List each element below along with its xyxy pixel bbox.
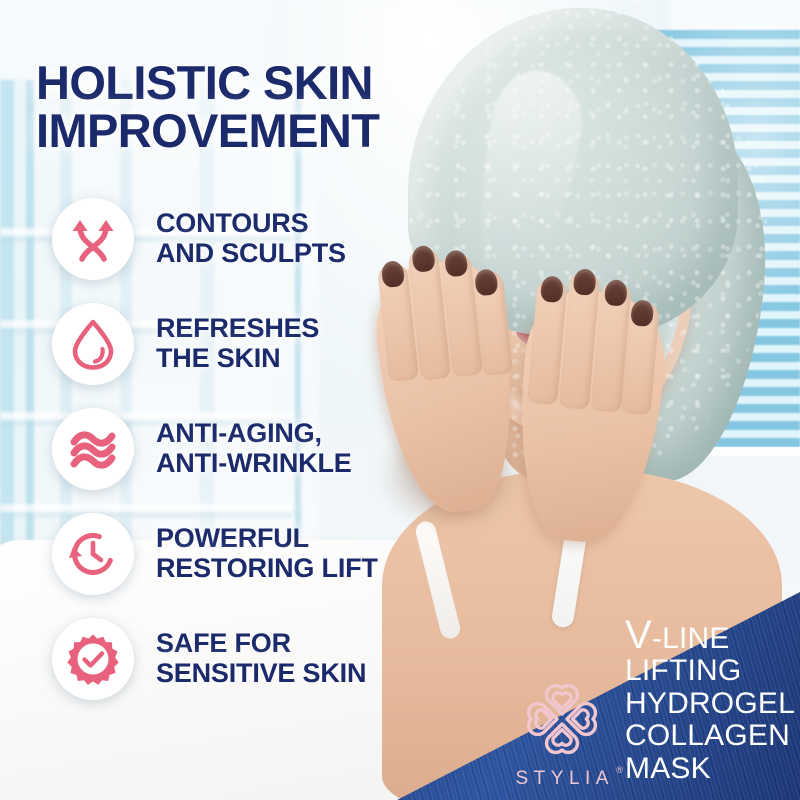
feature-label-line-2: SENSITIVE SKIN	[156, 659, 366, 688]
headline-line-2: IMPROVEMENT	[36, 107, 476, 155]
feature-item-safe-for-sensitive-skin: SAFE FOR SENSITIVE SKIN	[52, 606, 472, 711]
registered-trademark-mark: ®	[611, 765, 623, 775]
feature-label-line-1: CONTOURS	[156, 209, 346, 238]
feature-icon-badge	[52, 198, 134, 280]
feature-label: POWERFUL RESTORING LIFT	[156, 524, 378, 583]
feature-label-line-2: ANTI-WRINKLE	[156, 449, 352, 478]
feature-item-anti-aging-anti-wrinkle: ANTI-AGING, ANTI-WRINKLE	[52, 396, 472, 501]
feature-item-contours-and-sculpts: CONTOURS AND SCULPTS	[52, 186, 472, 291]
product-name-line-5: MASK	[625, 753, 795, 785]
product-name-line-3: HYDROGEL	[625, 688, 795, 720]
brand-name: STYLIA	[516, 768, 614, 789]
feature-icon-badge	[52, 513, 134, 595]
product-name: V-LINE LIFTING HYDROGEL COLLAGEN MASK	[625, 617, 795, 785]
page-title: HOLISTIC SKIN IMPROVEMENT	[36, 59, 476, 155]
feature-label-line-1: ANTI-AGING,	[156, 419, 352, 448]
feature-list: CONTOURS AND SCULPTS REFRESHES THE SKIN	[52, 186, 472, 711]
arrowhead	[73, 220, 88, 231]
clock-restore-icon	[67, 529, 119, 579]
crossing-up-arrows-icon	[68, 214, 118, 264]
feature-label: ANTI-AGING, ANTI-WRINKLE	[156, 419, 352, 478]
product-name-line-4: COLLAGEN	[625, 720, 795, 752]
feature-label: REFRESHES THE SKIN	[156, 314, 319, 373]
badge-inner-circle	[78, 643, 109, 674]
brand-logo-block: STYLIA®	[510, 676, 614, 790]
product-name-line-1: V-LINE	[625, 617, 795, 655]
feature-label: SAFE FOR SENSITIVE SKIN	[156, 629, 366, 688]
product-name-v-initial: V	[625, 613, 652, 657]
feature-label-line-2: AND SCULPTS	[156, 239, 346, 268]
verified-badge-check-icon	[67, 633, 119, 685]
water-droplet-icon	[70, 318, 116, 370]
feature-icon-badge	[52, 303, 134, 385]
feature-item-powerful-restoring-lift: POWERFUL RESTORING LIFT	[52, 501, 472, 606]
brand-wordmark: STYLIA®	[510, 768, 614, 790]
feature-label: CONTOURS AND SCULPTS	[156, 209, 346, 268]
feature-label-line-2: RESTORING LIFT	[156, 554, 378, 583]
product-marketing-poster: HOLISTIC SKIN IMPROVEMENT CONTOURS AND S…	[0, 0, 800, 800]
feature-icon-badge	[52, 408, 134, 490]
wrinkle-waves-icon	[67, 425, 119, 473]
feature-label-line-1: POWERFUL	[156, 524, 378, 553]
four-heart-clover-logo	[519, 676, 605, 762]
feature-label-line-1: REFRESHES	[156, 314, 319, 343]
product-name-line-2: LIFTING	[625, 655, 795, 687]
feature-label-line-1: SAFE FOR	[156, 629, 366, 658]
headline-line-1: HOLISTIC SKIN	[36, 56, 373, 109]
feature-icon-badge	[52, 618, 134, 700]
product-name-line-1-rest: -LINE	[652, 622, 730, 655]
feature-item-refreshes-the-skin: REFRESHES THE SKIN	[52, 291, 472, 396]
feature-label-line-2: THE SKIN	[156, 344, 319, 373]
arrowhead	[99, 220, 114, 231]
